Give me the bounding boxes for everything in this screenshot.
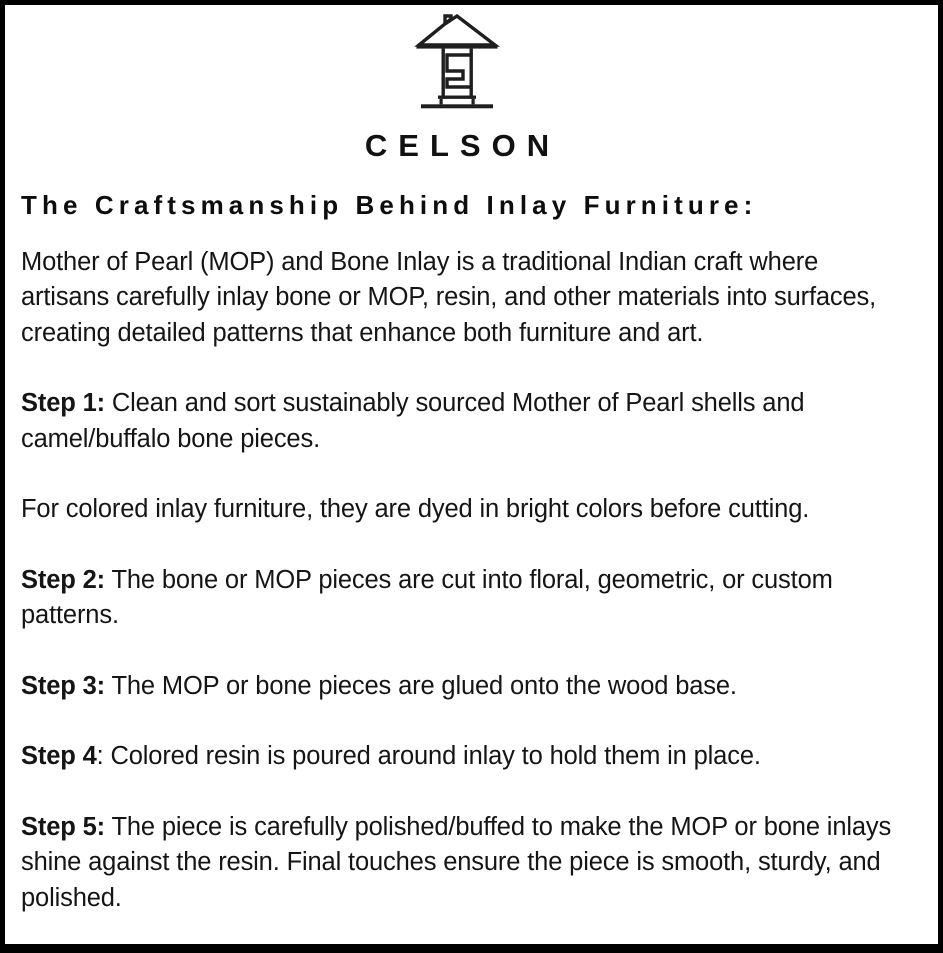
step-1-text: Clean and sort sustainably sourced Mothe… xyxy=(21,389,804,453)
step-5-label: Step 5: xyxy=(21,813,105,841)
brand-wordmark: CELSON xyxy=(16,130,898,161)
step-3-label: Step 3: xyxy=(21,672,105,700)
step-3-paragraph: Step 3: The MOP or bone pieces are glued… xyxy=(21,669,898,705)
step-2-paragraph: Step 2: The bone or MOP pieces are cut i… xyxy=(21,563,898,634)
house-monogram-icon xyxy=(411,14,503,112)
step-4-text: : Colored resin is poured around inlay t… xyxy=(97,742,761,770)
colored-inlay-note-text: For colored inlay furniture, they are dy… xyxy=(21,495,809,523)
colored-inlay-note: For colored inlay furniture, they are dy… xyxy=(21,492,898,528)
step-1-paragraph: Step 1: Clean and sort sustainably sourc… xyxy=(21,386,898,457)
step-5-text: The piece is carefully polished/buffed t… xyxy=(21,813,891,912)
page-title: The Craftsmanship Behind Inlay Furniture… xyxy=(21,191,898,221)
poster-card: CELSON The Craftsmanship Behind Inlay Fu… xyxy=(0,0,943,953)
step-5-paragraph: Step 5: The piece is carefully polished/… xyxy=(21,810,898,917)
step-4-paragraph: Step 4: Colored resin is poured around i… xyxy=(21,739,898,775)
step-1-label: Step 1: xyxy=(21,389,105,417)
intro-paragraph: Mother of Pearl (MOP) and Bone Inlay is … xyxy=(21,245,898,352)
step-3-text: The MOP or bone pieces are glued onto th… xyxy=(105,672,737,700)
step-4-label: Step 4 xyxy=(21,742,97,770)
intro-text: Mother of Pearl (MOP) and Bone Inlay is … xyxy=(21,248,876,347)
step-2-text: The bone or MOP pieces are cut into flor… xyxy=(21,566,833,630)
step-2-label: Step 2: xyxy=(21,566,105,594)
brand-block: CELSON xyxy=(16,5,898,161)
body-copy: Mother of Pearl (MOP) and Bone Inlay is … xyxy=(21,245,898,917)
poster-inner: CELSON The Craftsmanship Behind Inlay Fu… xyxy=(5,5,938,944)
